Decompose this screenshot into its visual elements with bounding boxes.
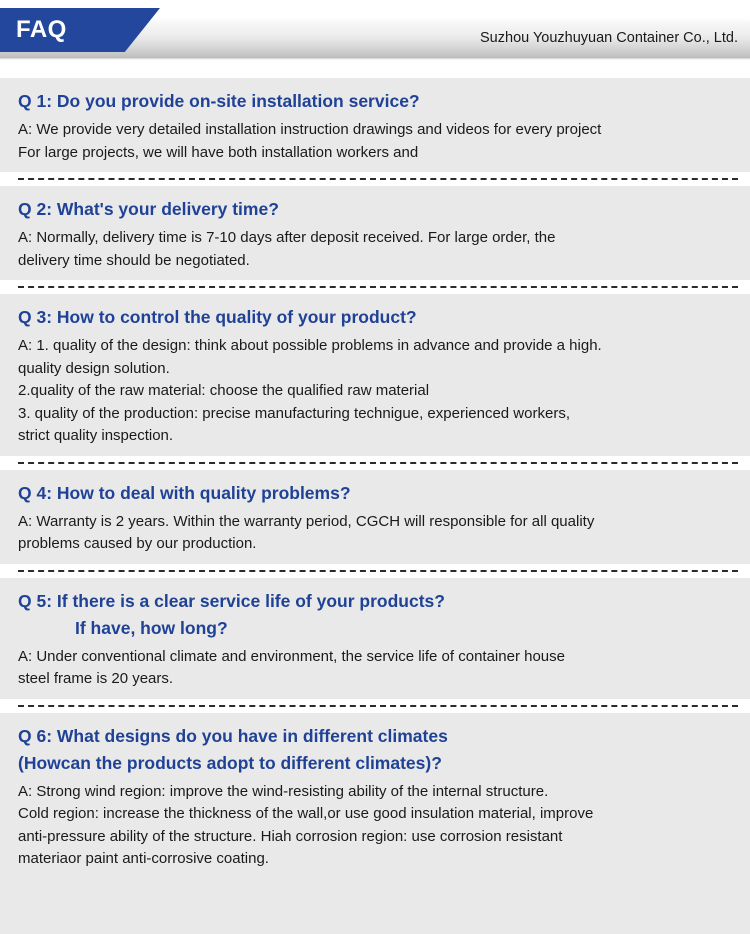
faq-badge-label: FAQ xyxy=(16,8,67,52)
faq-question-line: Q 2: What's your delivery time? xyxy=(0,196,750,223)
faq-answer-line: materiaor paint anti-corrosive coating. xyxy=(18,848,742,871)
faq-answer-line: quality design solution. xyxy=(18,358,742,381)
faq-answer-line: For large projects, we will have both in… xyxy=(18,142,742,165)
faq-answer-line: A: We provide very detailed installation… xyxy=(18,119,742,142)
header-bar-shadow xyxy=(0,58,750,60)
faq-item[interactable]: Q 1: Do you provide on-site installation… xyxy=(0,78,750,172)
faq-answer-line: delivery time should be negotiated. xyxy=(18,250,742,273)
faq-separator-band xyxy=(0,564,750,578)
dashed-separator xyxy=(18,462,738,464)
faq-question-line: If have, how long? xyxy=(0,615,750,642)
dashed-separator xyxy=(18,570,738,572)
faq-list: Q 1: Do you provide on-site installation… xyxy=(0,78,750,879)
faq-question-line: Q 4: How to deal with quality problems? xyxy=(0,480,750,507)
faq-answer: A: 1. quality of the design: think about… xyxy=(0,331,750,448)
faq-answer-line: A: Normally, delivery time is 7-10 days … xyxy=(18,227,742,250)
faq-item[interactable]: Q 3: How to control the quality of your … xyxy=(0,294,750,456)
faq-separator-band xyxy=(0,172,750,186)
faq-answer-line: anti-pressure ability of the structure. … xyxy=(18,826,742,849)
faq-item[interactable]: Q 6: What designs do you have in differe… xyxy=(0,713,750,879)
faq-answer-line: 3. quality of the production: precise ma… xyxy=(18,403,742,426)
page-header: FAQ Suzhou Youzhuyuan Container Co., Ltd… xyxy=(0,0,750,78)
faq-answer-line: problems caused by our production. xyxy=(18,533,742,556)
faq-answer: A: Under conventional climate and enviro… xyxy=(0,642,750,691)
faq-answer-line: Cold region: increase the thickness of t… xyxy=(18,803,742,826)
faq-question-line: (Howcan the products adopt to different … xyxy=(0,750,750,777)
dashed-separator xyxy=(18,286,738,288)
faq-answer-line: A: Strong wind region: improve the wind-… xyxy=(18,781,742,804)
faq-answer: A: Strong wind region: improve the wind-… xyxy=(0,777,750,871)
faq-question-line: Q 1: Do you provide on-site installation… xyxy=(0,88,750,115)
faq-answer: A: Normally, delivery time is 7-10 days … xyxy=(0,223,750,272)
faq-answer-line: steel frame is 20 years. xyxy=(18,668,742,691)
faq-answer-line: strict quality inspection. xyxy=(18,425,742,448)
faq-answer: A: We provide very detailed installation… xyxy=(0,115,750,164)
faq-answer-line: A: Warranty is 2 years. Within the warra… xyxy=(18,511,742,534)
faq-separator-band xyxy=(0,456,750,470)
faq-question-line: Q 6: What designs do you have in differe… xyxy=(0,723,750,750)
faq-answer: A: Warranty is 2 years. Within the warra… xyxy=(0,507,750,556)
dashed-separator xyxy=(18,705,738,707)
faq-answer-line: 2.quality of the raw material: choose th… xyxy=(18,380,742,403)
faq-answer-line: A: 1. quality of the design: think about… xyxy=(18,335,742,358)
faq-separator-band xyxy=(0,280,750,294)
faq-item[interactable]: Q 4: How to deal with quality problems?A… xyxy=(0,470,750,564)
dashed-separator xyxy=(18,178,738,180)
page-bottom-fill xyxy=(0,879,750,934)
faq-answer-line: A: Under conventional climate and enviro… xyxy=(18,646,742,669)
faq-separator-band xyxy=(0,699,750,713)
faq-question-line: Q 3: How to control the quality of your … xyxy=(0,304,750,331)
faq-item[interactable]: Q 2: What's your delivery time?A: Normal… xyxy=(0,186,750,280)
company-name: Suzhou Youzhuyuan Container Co., Ltd. xyxy=(480,18,738,58)
faq-item[interactable]: Q 5: If there is a clear service life of… xyxy=(0,578,750,699)
faq-question-line: Q 5: If there is a clear service life of… xyxy=(0,588,750,615)
